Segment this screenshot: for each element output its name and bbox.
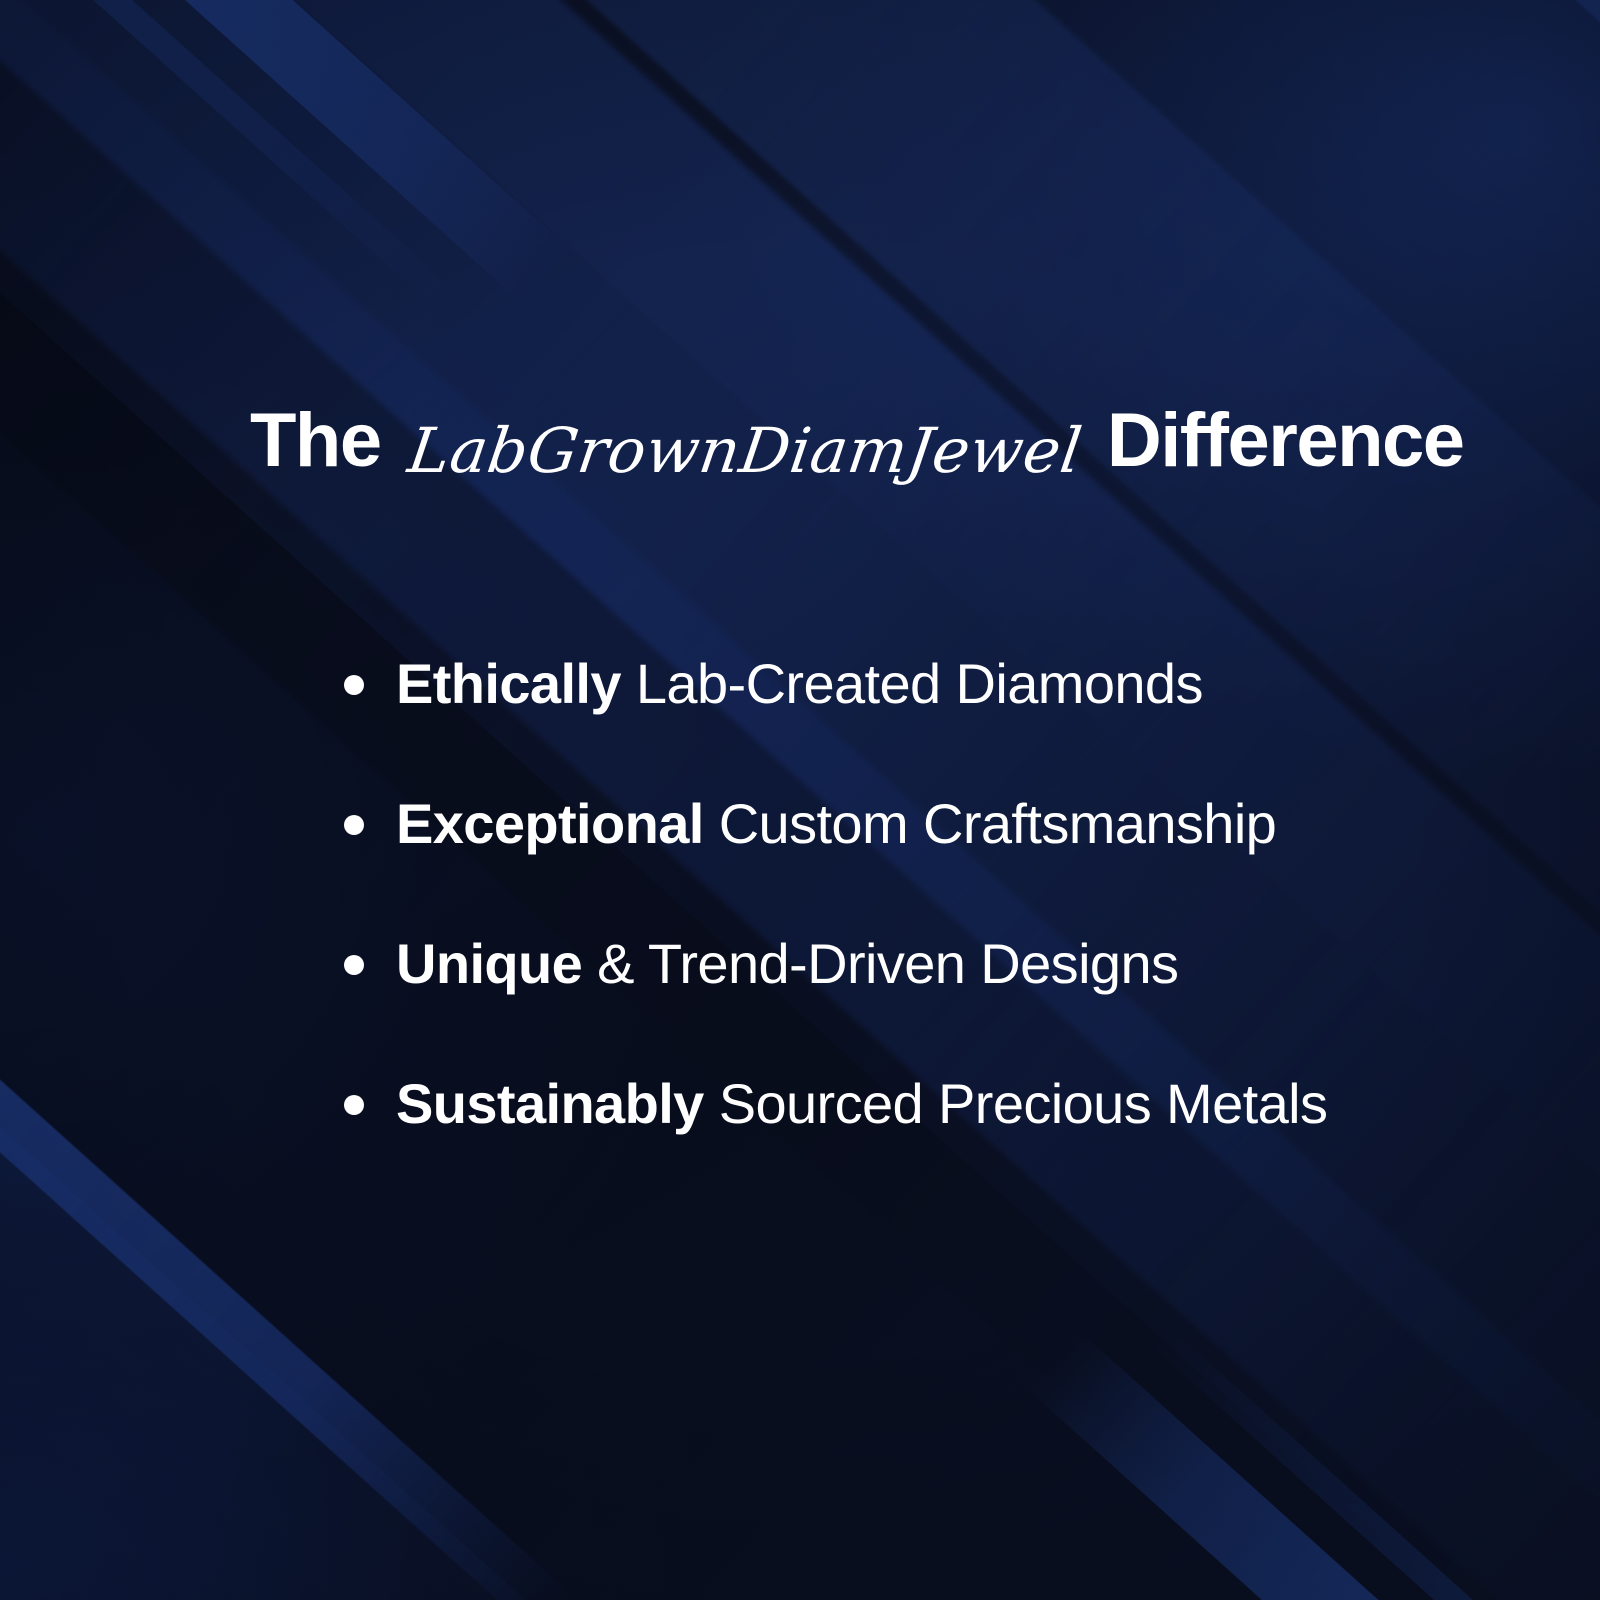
list-item: Ethically Lab-Created Diamonds [344,614,1327,754]
list-item: Exceptional Custom Craftsmanship [344,754,1327,894]
list-item-lead: Unique [396,932,582,995]
list-item-text: Ethically Lab-Created Diamonds [396,655,1203,714]
list-item-lead: Ethically [396,652,621,715]
headline-suffix: Difference [1107,403,1464,479]
list-item-text: Unique & Trend-Driven Designs [396,935,1178,994]
list-item-rest: Lab-Created Diamonds [636,652,1203,715]
headline-prefix: The [250,403,381,479]
list-item-text: Sustainably Sourced Precious Metals [396,1075,1327,1134]
list-item-lead: Exceptional [396,792,704,855]
page-title: The LabGrownDiamJewel Difference [250,403,1464,479]
bullet-dot-icon [344,1095,364,1115]
bullet-dot-icon [344,675,364,695]
brand-name: LabGrownDiamJewel [404,420,1085,482]
list-item: Sustainably Sourced Precious Metals [344,1034,1327,1174]
list-item: Unique & Trend-Driven Designs [344,894,1327,1034]
list-item-text: Exceptional Custom Craftsmanship [396,795,1276,854]
feature-list: Ethically Lab-Created Diamonds Exception… [344,614,1327,1174]
bullet-dot-icon [344,955,364,975]
content-area: The LabGrownDiamJewel Difference Ethical… [0,0,1600,1600]
list-item-rest: Custom Craftsmanship [719,792,1277,855]
list-item-rest: & Trend-Driven Designs [597,932,1178,995]
promo-graphic: The LabGrownDiamJewel Difference Ethical… [0,0,1600,1600]
list-item-rest: Sourced Precious Metals [719,1072,1328,1135]
list-item-lead: Sustainably [396,1072,704,1135]
bullet-dot-icon [344,815,364,835]
